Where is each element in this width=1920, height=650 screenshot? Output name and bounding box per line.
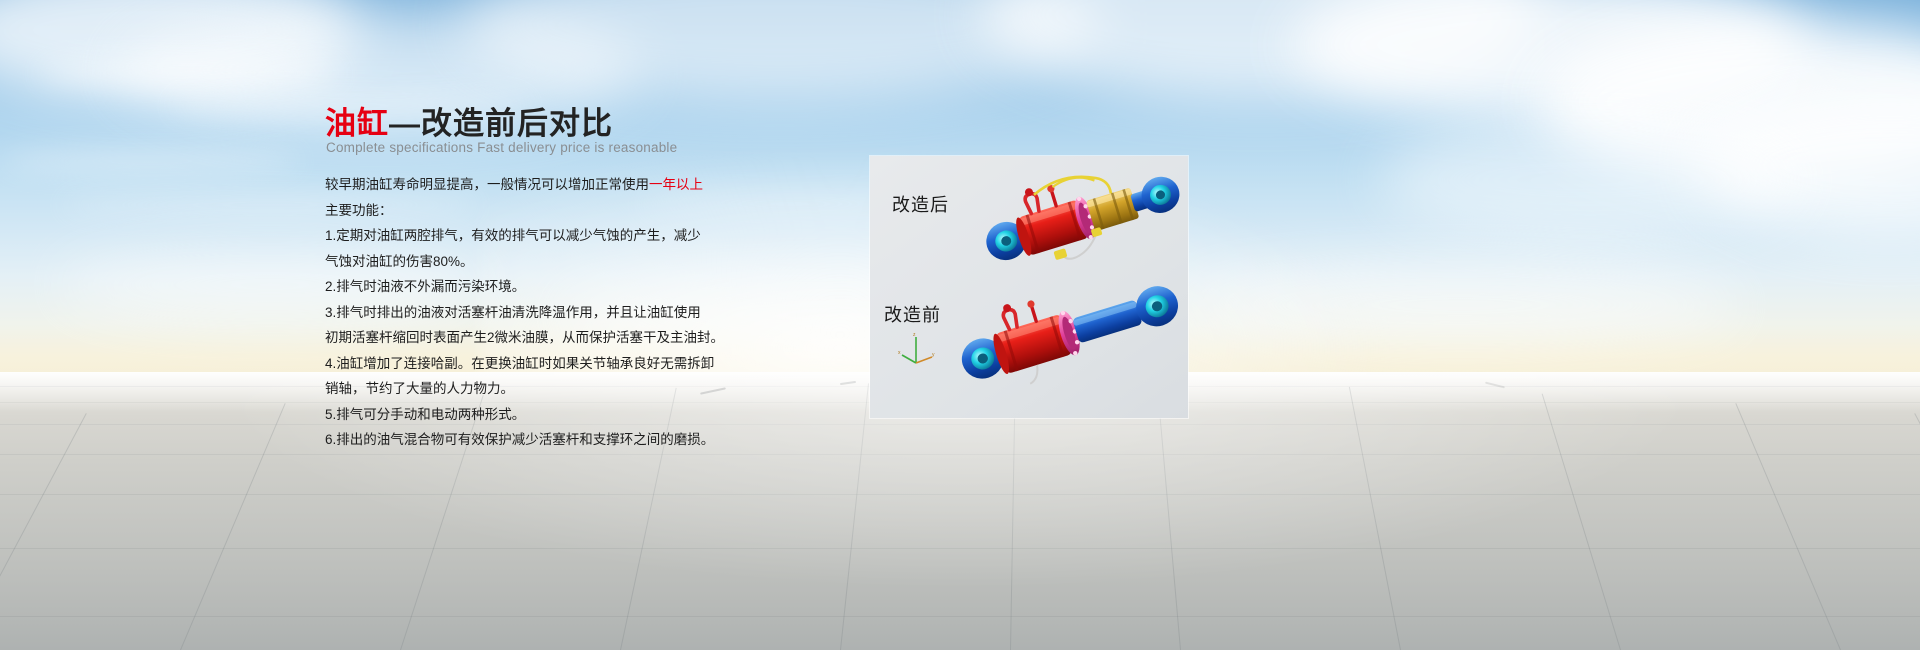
title-rest: —改造前后对比 bbox=[389, 106, 613, 141]
label-after: 改造后 bbox=[892, 191, 949, 217]
svg-text:x: x bbox=[898, 350, 901, 356]
body-line-highlight: 一年以上 bbox=[649, 177, 703, 192]
body-line: 5.排气可分手动和电动两种形式。 bbox=[325, 402, 745, 428]
body-line: 销轴，节约了大量的人力物力。 bbox=[325, 376, 745, 402]
product-banner: 油缸—改造前后对比 Complete specifications Fast d… bbox=[0, 0, 1920, 650]
body-line: 较早期油缸寿命明显提高，一般情况可以增加正常使用一年以上 bbox=[325, 172, 745, 198]
cylinder-before-render bbox=[952, 276, 1188, 396]
feature-description: 较早期油缸寿命明显提高，一般情况可以增加正常使用一年以上 主要功能： 1.定期对… bbox=[325, 172, 745, 453]
body-line: 初期活塞杆缩回时表面产生2微米油膜，从而保护活塞干及主油封。 bbox=[325, 325, 745, 351]
label-before: 改造前 bbox=[884, 301, 941, 327]
page-title: 油缸—改造前后对比 bbox=[325, 108, 613, 139]
page-subtitle: Complete specifications Fast delivery pr… bbox=[326, 140, 677, 155]
cylinder-after-render bbox=[978, 166, 1186, 278]
body-line: 气蚀对油缸的伤害80%。 bbox=[325, 249, 745, 275]
axis-triad-icon: z x y bbox=[898, 331, 938, 369]
body-line: 3.排气时排出的油液对活塞杆油清洗降温作用，并且让油缸使用 bbox=[325, 300, 745, 326]
body-line: 主要功能： bbox=[325, 198, 745, 224]
body-line: 6.排出的油气混合物可有效保护减少活塞杆和支撑环之间的磨损。 bbox=[325, 427, 745, 453]
body-line: 4.油缸增加了连接哈副。在更换油缸时如果关节轴承良好无需拆卸 bbox=[325, 351, 745, 377]
comparison-image-panel: 改造后 改造前 z x y bbox=[870, 156, 1188, 418]
body-line: 2.排气时油液不外漏而污染环境。 bbox=[325, 274, 745, 300]
title-highlight: 油缸 bbox=[325, 106, 389, 141]
svg-text:y: y bbox=[932, 352, 935, 358]
body-line: 1.定期对油缸两腔排气，有效的排气可以减少气蚀的产生，减少 bbox=[325, 223, 745, 249]
